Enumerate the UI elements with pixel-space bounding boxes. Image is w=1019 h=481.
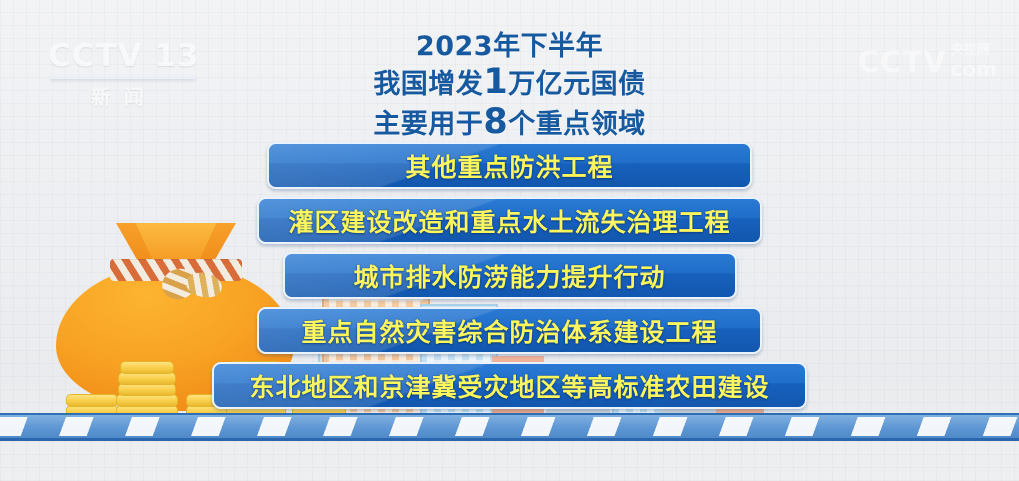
headline-line-1: 2023年下半年 bbox=[0, 32, 1019, 63]
bar-item-2[interactable]: 灌区建设改造和重点水土流失治理工程 bbox=[257, 197, 762, 244]
headline-line-3-number: 8 bbox=[483, 102, 508, 142]
bar-row: 灌区建设改造和重点水土流失治理工程 bbox=[0, 197, 1019, 244]
bar-item-5-label: 东北地区和京津冀受灾地区等高标准农田建设 bbox=[249, 368, 769, 404]
bar-item-3[interactable]: 城市排水防涝能力提升行动 bbox=[283, 252, 737, 299]
bar-item-4-label: 重点自然灾害综合防治体系建设工程 bbox=[301, 313, 717, 349]
broadcast-graphic-stage: CCTV 13 新闻 CCTV 央视网 com 2023年下半年 我国增发1万亿… bbox=[0, 0, 1019, 481]
headline-line-3-prefix: 主要用于 bbox=[373, 109, 483, 140]
bar-item-1[interactable]: 其他重点防洪工程 bbox=[267, 142, 752, 189]
bar-row: 其他重点防洪工程 bbox=[0, 142, 1019, 189]
bar-row: 重点自然灾害综合防治体系建设工程 bbox=[0, 307, 1019, 354]
headline-line-3-suffix: 个重点领域 bbox=[508, 109, 646, 140]
bar-item-2-label: 灌区建设改造和重点水土流失治理工程 bbox=[288, 203, 730, 239]
headline-line-3: 主要用于8个重点领域 bbox=[0, 103, 1019, 143]
headline-line-2: 我国增发1万亿元国债 bbox=[0, 63, 1019, 103]
headline-line-2-prefix: 我国增发 bbox=[373, 69, 483, 100]
key-areas-bar-list: 其他重点防洪工程 灌区建设改造和重点水土流失治理工程 城市排水防涝能力提升行动 … bbox=[0, 142, 1019, 417]
headline-line-2-number: 1 bbox=[483, 62, 508, 102]
ground-stripe-band bbox=[0, 413, 1019, 441]
bar-row: 城市排水防涝能力提升行动 bbox=[0, 252, 1019, 299]
headline-line-2-suffix: 万亿元国债 bbox=[508, 69, 646, 100]
bar-item-1-label: 其他重点防洪工程 bbox=[405, 148, 613, 184]
bar-row: 东北地区和京津冀受灾地区等高标准农田建设 bbox=[0, 362, 1019, 409]
bar-item-4[interactable]: 重点自然灾害综合防治体系建设工程 bbox=[257, 307, 762, 354]
bar-item-3-label: 城市排水防涝能力提升行动 bbox=[353, 258, 665, 294]
bar-item-5[interactable]: 东北地区和京津冀受灾地区等高标准农田建设 bbox=[212, 362, 807, 409]
headline-block: 2023年下半年 我国增发1万亿元国债 主要用于8个重点领域 bbox=[0, 32, 1019, 143]
